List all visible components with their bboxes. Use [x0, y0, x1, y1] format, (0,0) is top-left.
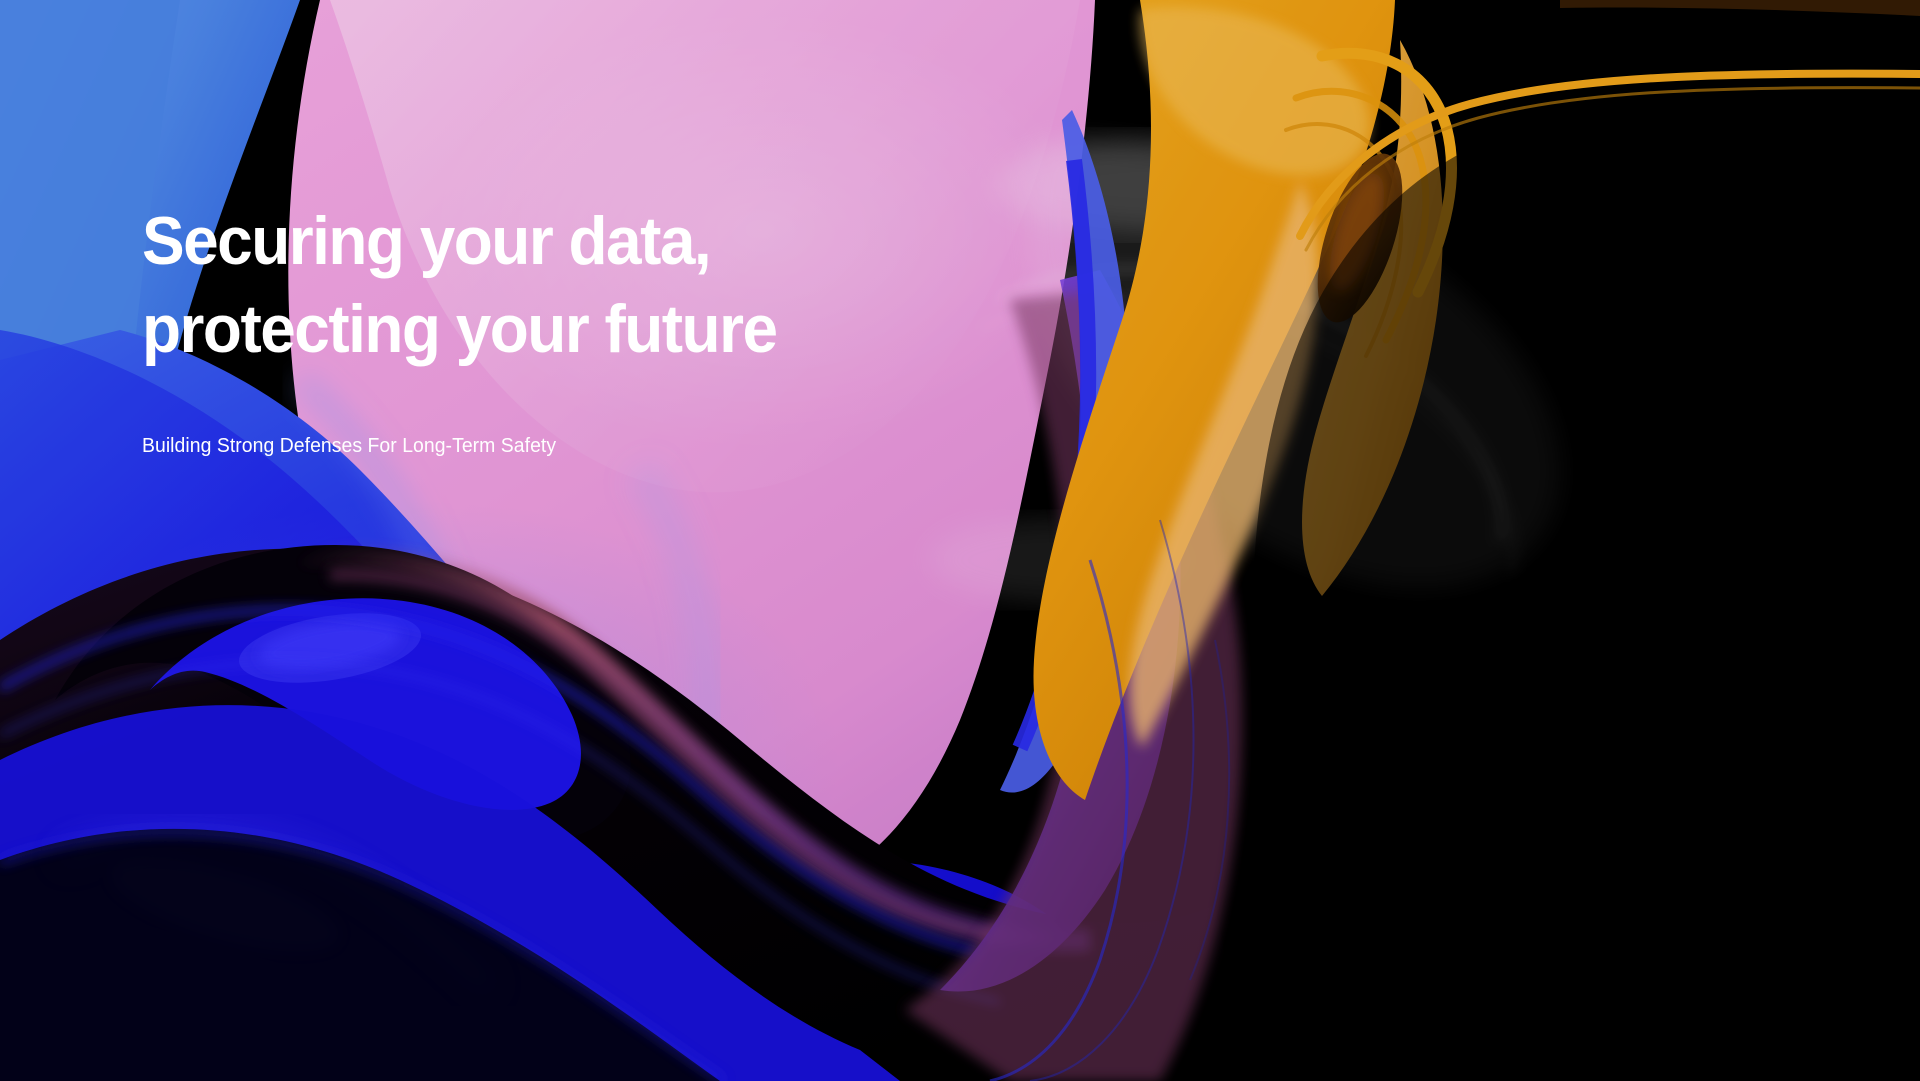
headline-line-2: protecting your future — [142, 285, 1082, 373]
page-title: Securing your data, protecting your futu… — [142, 197, 1082, 373]
hero-copy-block: Securing your data, protecting your futu… — [142, 197, 1142, 459]
headline-line-1: Securing your data, — [142, 197, 1082, 285]
page-subtitle: Building Strong Defenses For Long-Term S… — [142, 373, 1112, 459]
bg-vignette — [0, 0, 1920, 1081]
hero-banner: Securing your data, protecting your futu… — [0, 0, 1920, 1081]
abstract-background-artwork — [0, 0, 1920, 1081]
